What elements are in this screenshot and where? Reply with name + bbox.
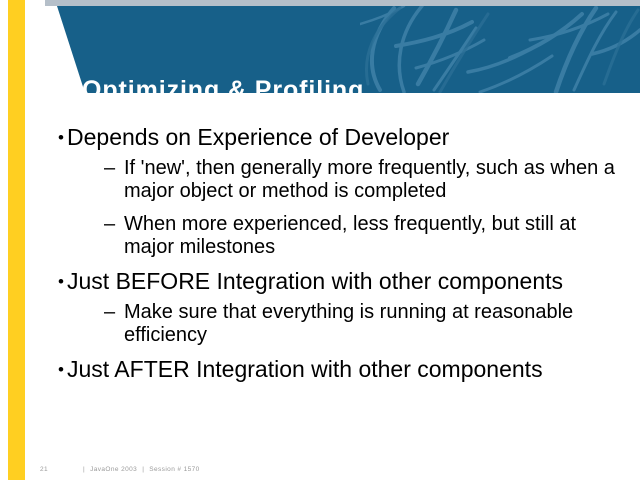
bullet-text: Make sure that everything is running at … xyxy=(124,301,624,347)
bullet-item-level1: • Depends on Experience of Developer xyxy=(58,124,636,153)
footer-separator: | xyxy=(137,466,149,473)
header-diagonal-wedge xyxy=(45,6,85,93)
bullet-item-level2: – If 'new', then generally more frequent… xyxy=(58,157,636,203)
bullet-text: Just BEFORE Integration with other compo… xyxy=(67,268,563,295)
left-accent-bar xyxy=(8,0,25,480)
bullet-dash-icon: – xyxy=(104,213,124,236)
bullet-dash-icon: – xyxy=(104,157,124,180)
footer-session-number: Session # 1570 xyxy=(149,466,199,473)
slide-body: • Depends on Experience of Developer – I… xyxy=(58,124,636,388)
bullet-dot-icon: • xyxy=(58,124,67,151)
bullet-dot-icon: • xyxy=(58,356,67,383)
bullet-text: Just AFTER Integration with other compon… xyxy=(67,356,543,383)
bullet-item-level1: • Just AFTER Integration with other comp… xyxy=(58,356,636,385)
slide-footer: 21 | JavaOne 2003 | Session # 1570 xyxy=(40,466,200,473)
bullet-item-level1: • Just BEFORE Integration with other com… xyxy=(58,268,636,297)
top-gray-strip xyxy=(45,0,640,6)
footer-separator: | xyxy=(78,466,90,473)
slide-canvas: Optimizing & Profiling When to Profile? … xyxy=(0,0,640,480)
bullet-item-level2: – When more experienced, less frequently… xyxy=(58,213,636,259)
bullet-dash-icon: – xyxy=(104,301,124,324)
bullet-text: Depends on Experience of Developer xyxy=(67,124,449,151)
bullet-item-level2: – Make sure that everything is running a… xyxy=(58,301,636,347)
footer-page-number: 21 xyxy=(40,466,78,473)
bullet-text: When more experienced, less frequently, … xyxy=(124,213,624,259)
bullet-dot-icon: • xyxy=(58,268,67,295)
page-title-line-1: Optimizing & Profiling xyxy=(82,75,502,105)
footer-event-name: JavaOne 2003 xyxy=(90,466,137,473)
bullet-text: If 'new', then generally more frequently… xyxy=(124,157,624,203)
